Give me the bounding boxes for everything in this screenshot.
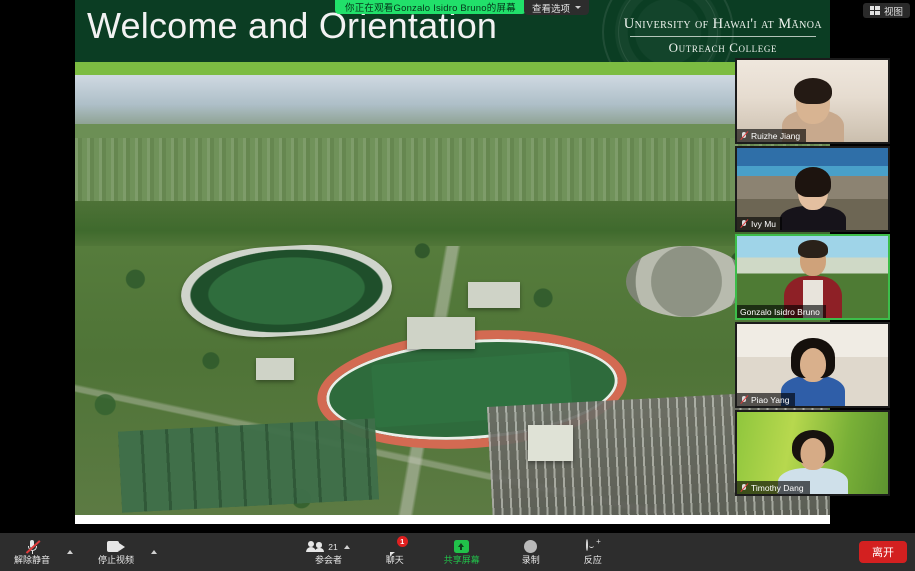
record-label: 录制	[522, 556, 540, 565]
toolbar-center-group: 21 参会者 1 聊天 共享屏幕	[291, 533, 624, 571]
stop-video-button[interactable]: 停止视频	[89, 533, 143, 571]
participant-name-4: Timothy Dang	[751, 483, 804, 493]
stop-video-label: 停止视频	[98, 556, 134, 565]
participant-name-badge-2: Gonzalo Isidro Bruno	[737, 305, 826, 318]
screen-share-status-banner: 你正在观看Gonzalo Isidro Bruno的屏幕	[335, 0, 526, 14]
mic-muted-icon	[740, 483, 748, 493]
reactions-button[interactable]: + 反应	[562, 533, 624, 571]
record-icon	[524, 539, 537, 554]
participant-name-badge-0: Ruizhe Jiang	[737, 129, 806, 142]
campus-aerial-photo	[75, 75, 830, 524]
participant-tile-2[interactable]: Gonzalo Isidro Bruno	[735, 234, 890, 320]
participant-name-2: Gonzalo Isidro Bruno	[740, 307, 820, 317]
meeting-toolbar: 解除静音 停止视频 21 参会者	[0, 533, 915, 571]
mic-muted-icon	[740, 131, 748, 141]
participants-icon: 21	[307, 539, 349, 554]
toolbar-left-group: 解除静音 停止视频	[0, 533, 163, 571]
participant-name-1: Ivy Mu	[751, 219, 776, 229]
participant-name-3: Piao Yang	[751, 395, 789, 405]
video-options-caret[interactable]	[143, 533, 163, 571]
zoom-meeting-window: Welcome and Orientation University of Ha…	[0, 0, 915, 571]
wordmark-divider	[630, 36, 816, 37]
share-screen-label: 共享屏幕	[444, 556, 480, 565]
participant-name-badge-4: Timothy Dang	[737, 481, 810, 494]
mute-button[interactable]: 解除静音	[0, 533, 59, 571]
mic-muted-icon	[26, 539, 39, 554]
participant-filmstrip: Ruizhe Jiang Ivy Mu Go	[735, 58, 890, 498]
camera-icon	[107, 539, 125, 554]
shared-presentation-slide[interactable]: Welcome and Orientation University of Ha…	[75, 0, 830, 524]
participants-count: 21	[328, 542, 337, 552]
university-wordmark: University of Hawai'i at Mānoa Outreach …	[624, 16, 822, 56]
reactions-label: 反应	[584, 556, 602, 565]
viewing-banner-text: 你正在观看Gonzalo Isidro Bruno的屏幕	[345, 0, 516, 14]
chevron-down-icon	[575, 6, 581, 9]
view-button-label: 视图	[884, 4, 903, 18]
record-button[interactable]: 录制	[500, 533, 562, 571]
mic-muted-icon	[740, 395, 748, 405]
participant-name-0: Ruizhe Jiang	[751, 131, 800, 141]
mute-button-label: 解除静音	[14, 556, 50, 565]
view-options-button[interactable]: 查看选项	[524, 0, 589, 15]
grid-view-icon	[870, 6, 880, 15]
share-screen-icon	[454, 539, 469, 554]
mic-muted-icon	[740, 219, 748, 229]
chevron-up-icon	[67, 550, 73, 554]
chat-icon: 1	[388, 539, 402, 554]
view-layout-button[interactable]: 视图	[863, 3, 910, 18]
chevron-up-icon	[151, 550, 157, 554]
chat-label: 聊天	[386, 556, 404, 565]
chat-button[interactable]: 1 聊天	[366, 533, 424, 571]
chat-unread-badge: 1	[397, 536, 408, 547]
participant-tile-1[interactable]: Ivy Mu	[735, 146, 890, 232]
participant-tile-3[interactable]: Piao Yang	[735, 322, 890, 408]
participant-tile-0[interactable]: Ruizhe Jiang	[735, 58, 890, 144]
slide-accent-bar	[75, 62, 830, 75]
participants-label: 参会者	[315, 556, 342, 565]
participant-name-badge-3: Piao Yang	[737, 393, 795, 406]
participant-name-badge-1: Ivy Mu	[737, 217, 782, 230]
org-line-2: Outreach College	[624, 40, 822, 56]
share-screen-button[interactable]: 共享屏幕	[424, 533, 500, 571]
reactions-icon: +	[586, 539, 600, 554]
leave-meeting-button[interactable]: 离开	[859, 541, 907, 563]
audio-options-caret[interactable]	[59, 533, 79, 571]
org-line-1: University of Hawai'i at Mānoa	[624, 16, 822, 33]
view-options-label: 查看选项	[532, 1, 570, 15]
chevron-up-icon	[344, 545, 350, 549]
participants-button[interactable]: 21 参会者	[291, 533, 365, 571]
screen-share-stage: Welcome and Orientation University of Ha…	[0, 0, 915, 533]
participant-tile-4[interactable]: Timothy Dang	[735, 410, 890, 496]
